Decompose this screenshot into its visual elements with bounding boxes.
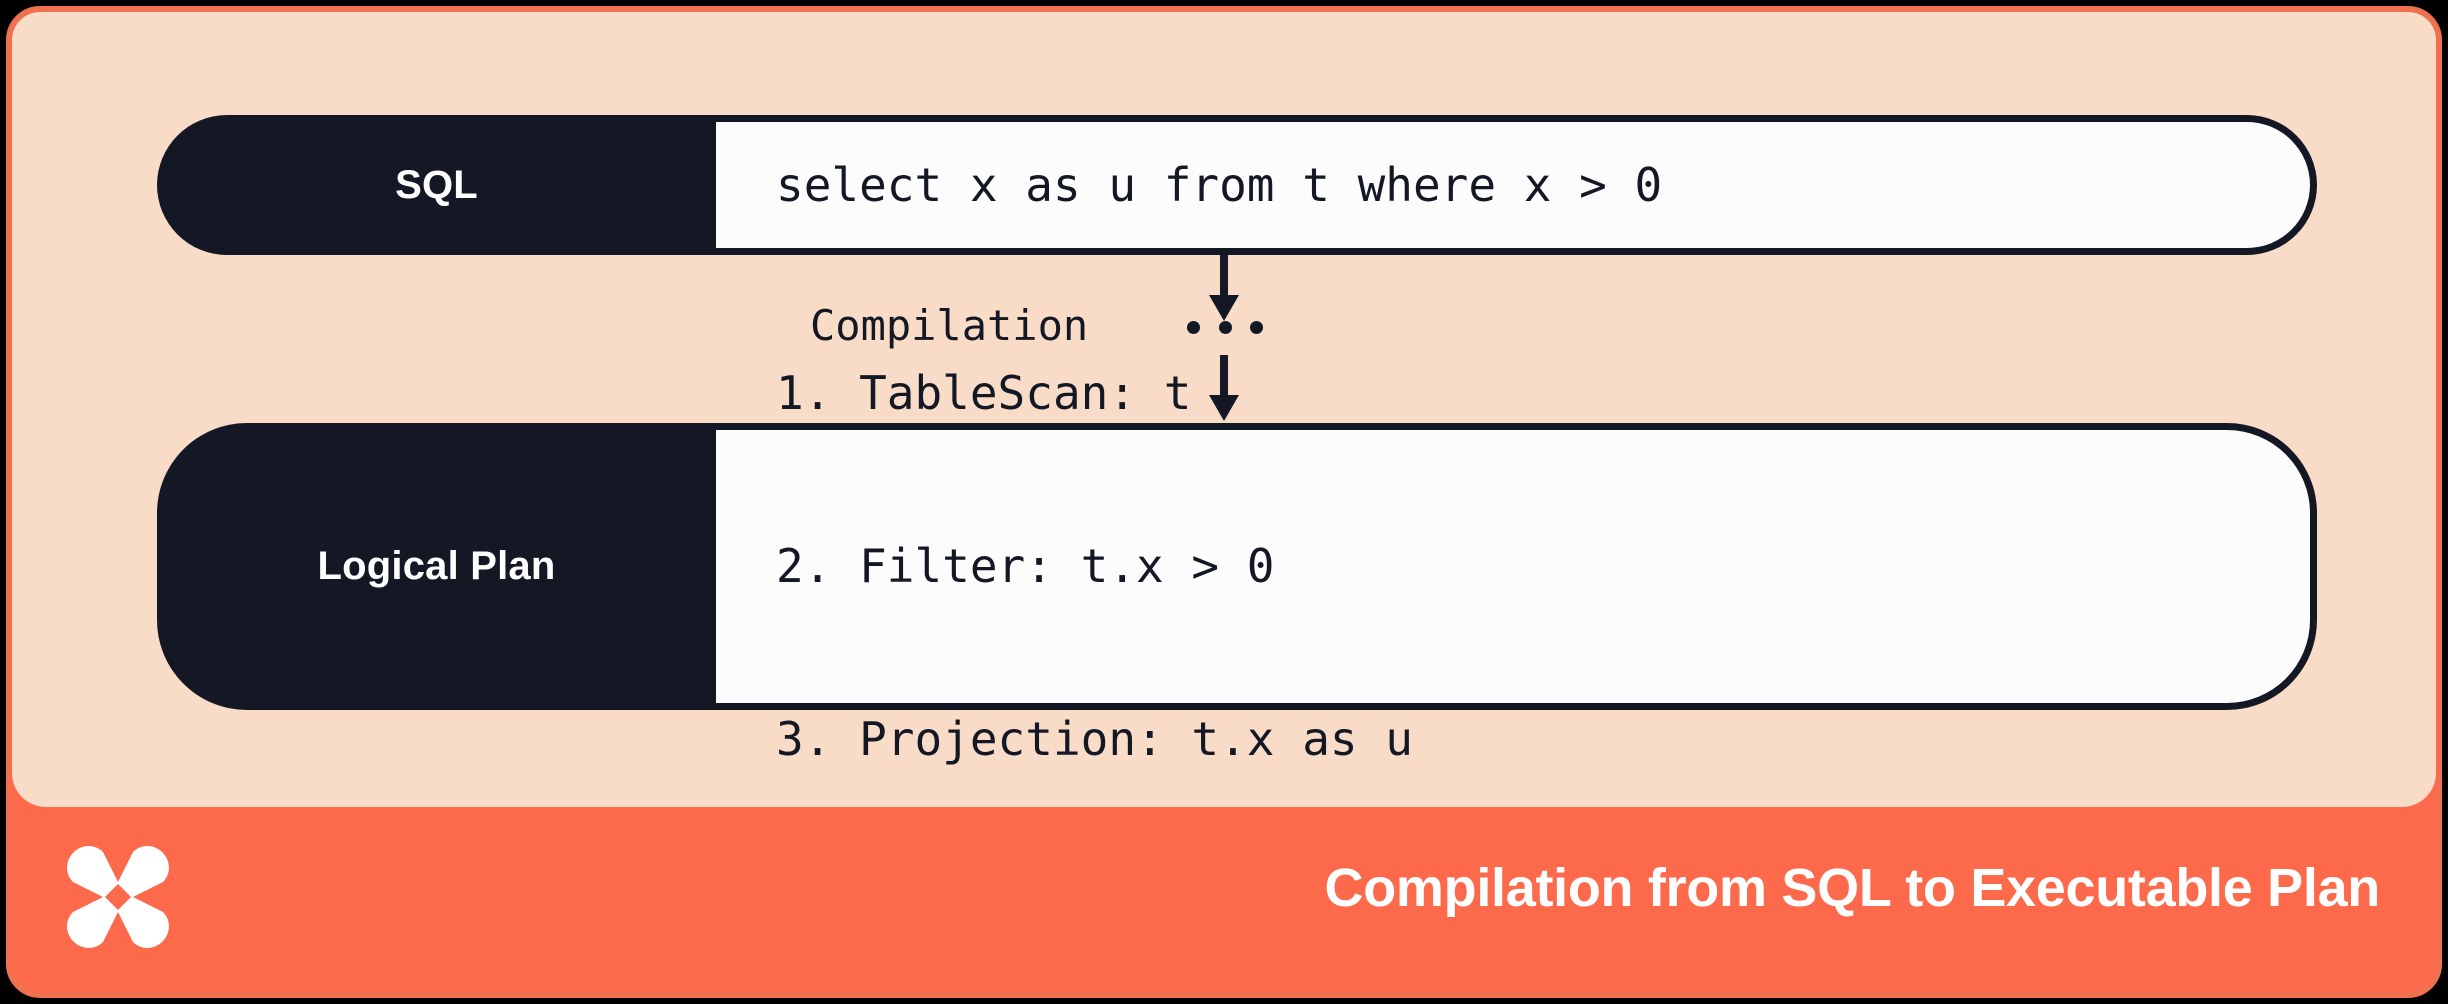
logical-plan-step: 2. Filter: t.x > 0 (776, 534, 2310, 599)
row-content-logical-plan: 1. TableScan: t 2. Filter: t.x > 0 3. Pr… (716, 423, 2317, 710)
row-logical-plan: Logical Plan 1. TableScan: t 2. Filter: … (157, 423, 2317, 710)
logo-glyph (60, 839, 176, 955)
logical-plan-step: 3. Projection: t.x as u (776, 707, 2310, 772)
row-label-sql: SQL (157, 115, 716, 255)
sql-query-text: select x as u from t where x > 0 (776, 162, 2310, 208)
diagram-card: SQL select x as u from t where x > 0 Com… (6, 6, 2442, 998)
row-label-logical-plan: Logical Plan (157, 423, 716, 710)
diagram-panel: SQL select x as u from t where x > 0 Com… (12, 12, 2436, 807)
screenshot-root: SQL select x as u from t where x > 0 Com… (0, 0, 2448, 1004)
row-content-sql: select x as u from t where x > 0 (716, 115, 2317, 255)
logical-plan-step: 1. TableScan: t (776, 361, 2310, 426)
row-sql: SQL select x as u from t where x > 0 (157, 115, 2317, 255)
logical-plan-list: 1. TableScan: t 2. Filter: t.x > 0 3. Pr… (776, 253, 2310, 881)
x-star-logo-icon (60, 839, 176, 955)
